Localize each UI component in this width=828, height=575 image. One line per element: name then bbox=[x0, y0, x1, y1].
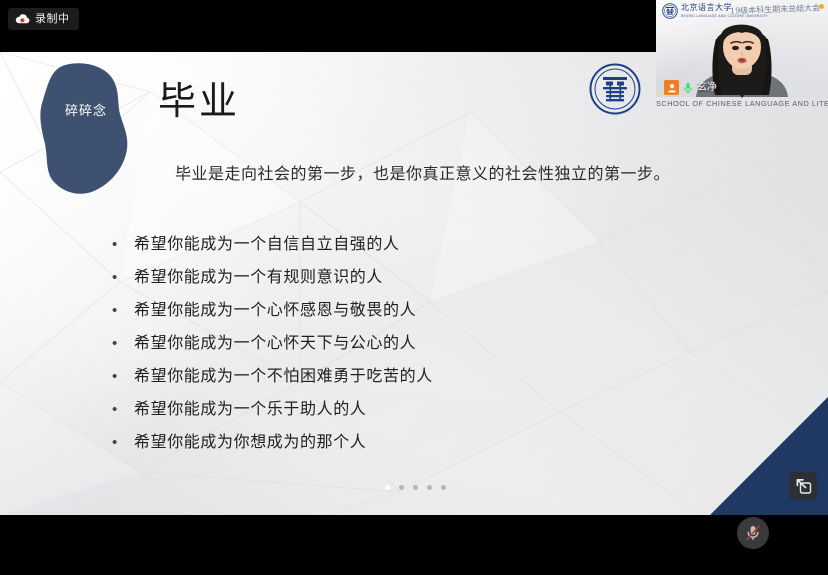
list-item: • 希望你能成为一个有规则意识的人 bbox=[112, 263, 752, 296]
bullet-marker-icon: • bbox=[112, 303, 134, 318]
bullet-marker-icon: • bbox=[112, 336, 134, 351]
microphone-muted-icon bbox=[743, 523, 763, 543]
exit-fullscreen-button[interactable] bbox=[789, 472, 817, 500]
bullet-list: • 希望你能成为一个自信自立自强的人 • 希望你能成为一个有规则意识的人 • 希… bbox=[112, 230, 752, 461]
bullet-text: 希望你能成为一个不怕困难勇于吃苦的人 bbox=[134, 362, 433, 386]
participant-video-tile[interactable]: 北京语言大学 BEIJING LANGUAGE AND CULTURE UNIV… bbox=[656, 0, 828, 97]
cloud-record-icon bbox=[15, 14, 30, 24]
bullet-text: 希望你能成为你想成为的那个人 bbox=[134, 428, 366, 452]
recording-badge[interactable]: 录制中 bbox=[8, 8, 79, 30]
bullet-marker-icon: • bbox=[112, 402, 134, 417]
bullet-marker-icon: • bbox=[112, 435, 134, 450]
bullet-text: 希望你能成为一个乐于助人的人 bbox=[134, 395, 366, 419]
banner-university-seal-icon bbox=[662, 3, 678, 19]
slide-title: 毕业 bbox=[158, 70, 240, 125]
bullet-text: 希望你能成为一个心怀感恩与敬畏的人 bbox=[134, 296, 416, 320]
school-caption-text: SCHOOL OF CHINESE LANGUAGE AND LITERATUR… bbox=[656, 99, 828, 108]
blob-decoration: 碎碎念 bbox=[38, 62, 134, 196]
pagination-dot-2[interactable] bbox=[399, 485, 404, 490]
microphone-on-icon bbox=[683, 82, 693, 94]
list-item: • 希望你能成为一个心怀天下与公心的人 bbox=[112, 329, 752, 362]
pagination-dot-1[interactable] bbox=[385, 485, 390, 490]
participant-name: 玄净 bbox=[697, 83, 717, 93]
school-caption: SCHOOL OF CHINESE LANGUAGE AND LITERATUR… bbox=[656, 99, 828, 108]
pagination-dot-3[interactable] bbox=[413, 485, 418, 490]
bullet-marker-icon: • bbox=[112, 369, 134, 384]
presentation-viewer: 录制中 bbox=[0, 0, 828, 575]
bullet-text: 希望你能成为一个自信自立自强的人 bbox=[134, 230, 400, 254]
pagination-dot-4[interactable] bbox=[427, 485, 432, 490]
university-seal-icon bbox=[589, 63, 641, 115]
exit-fullscreen-icon bbox=[795, 478, 812, 495]
caption-pointer-icon bbox=[739, 94, 745, 98]
slide-subtitle: 毕业是走向社会的第一步，也是你真正意义的社会性独立的第一步。 bbox=[175, 160, 670, 184]
participant-name-strip: 玄净 bbox=[664, 80, 717, 95]
person-avatar-icon bbox=[664, 80, 679, 95]
bullet-text: 希望你能成为一个有规则意识的人 bbox=[134, 263, 383, 287]
list-item: • 希望你能成为一个不怕困难勇于吃苦的人 bbox=[112, 362, 752, 395]
bullet-marker-icon: • bbox=[112, 270, 134, 285]
orange-status-dot-icon bbox=[819, 4, 824, 9]
blob-label: 碎碎念 bbox=[38, 100, 134, 119]
bullet-marker-icon: • bbox=[112, 237, 134, 252]
recording-label: 录制中 bbox=[35, 14, 70, 25]
list-item: • 希望你能成为你想成为的那个人 bbox=[112, 428, 752, 461]
bullet-text: 希望你能成为一个心怀天下与公心的人 bbox=[134, 329, 416, 353]
pagination-dot-5[interactable] bbox=[441, 485, 446, 490]
slide-pagination[interactable] bbox=[385, 485, 446, 490]
microphone-toggle-button[interactable] bbox=[737, 517, 769, 549]
list-item: • 希望你能成为一个乐于助人的人 bbox=[112, 395, 752, 428]
list-item: • 希望你能成为一个自信自立自强的人 bbox=[112, 230, 752, 263]
list-item: • 希望你能成为一个心怀感恩与敬畏的人 bbox=[112, 296, 752, 329]
